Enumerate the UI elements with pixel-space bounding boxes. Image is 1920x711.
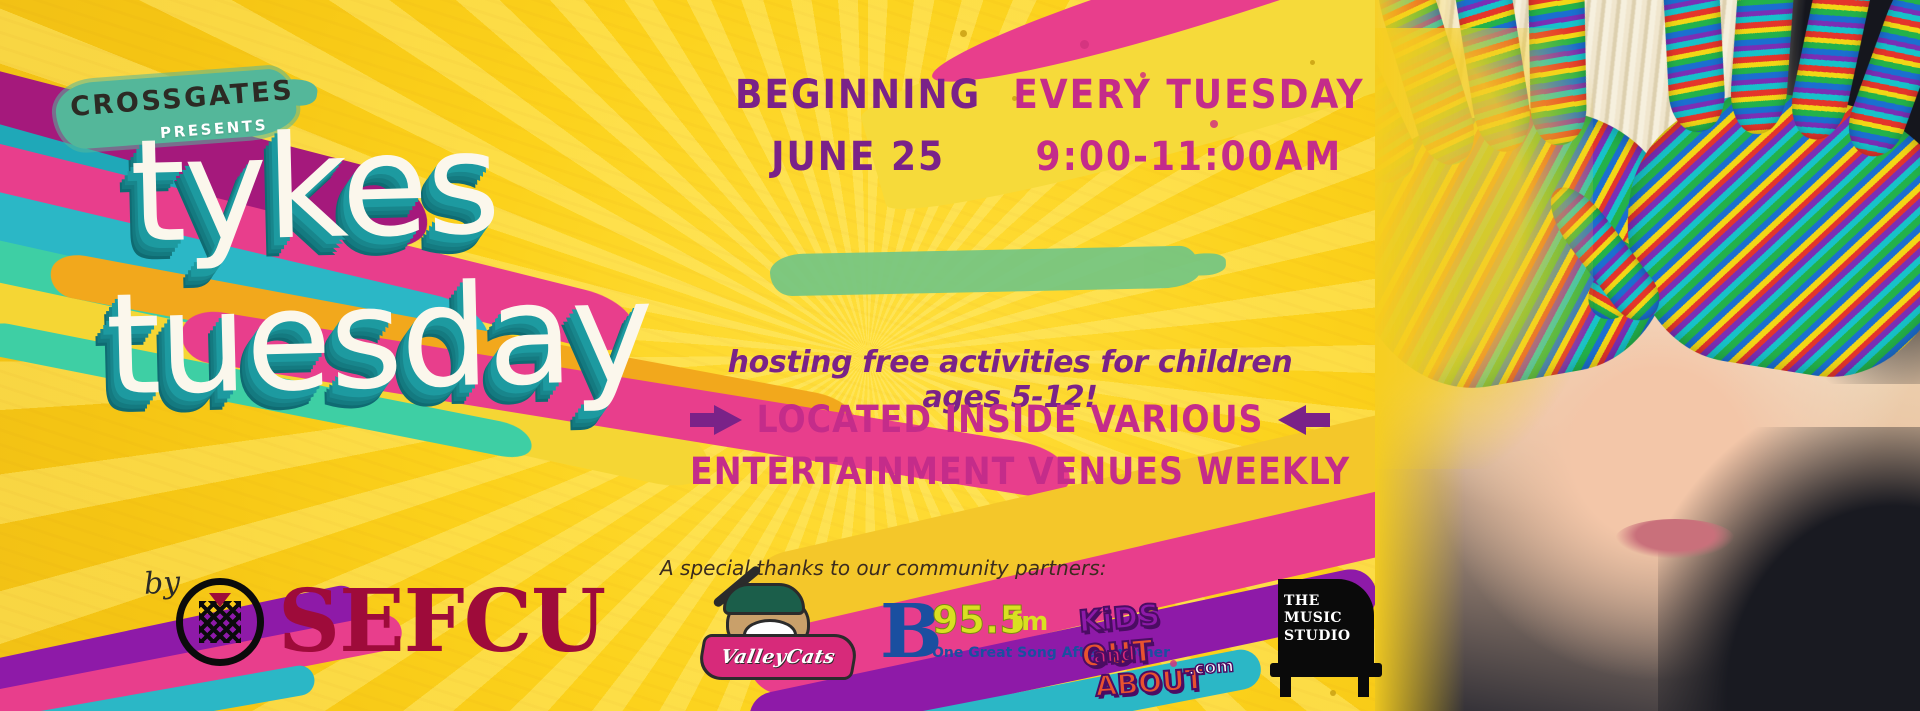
schedule-header: BEGINNING JUNE 25 EVERY TUESDAY 9:00-11:… xyxy=(735,64,1295,194)
kids-out-and-about-logo: KiDS OUT and ABOUT .com xyxy=(1080,596,1240,680)
paint-speck xyxy=(960,30,967,37)
schedule-start-column: BEGINNING JUNE 25 xyxy=(735,64,981,188)
partner-logos: ValleyCats B 95.5 fm One Great Song Afte… xyxy=(700,585,1400,690)
partners-thanks-label: A special thanks to our community partne… xyxy=(660,556,1360,580)
b955-band: fm xyxy=(1010,607,1048,637)
child-with-painted-hands-photo xyxy=(1375,0,1920,711)
music-studio-wordmark: THE MUSIC STUDIO xyxy=(1284,593,1370,646)
b955-logo: B 95.5 fm One Great Song After Another xyxy=(880,597,1050,679)
sefcu-knot-icon xyxy=(176,578,264,666)
schedule-recurrence: EVERY TUESDAY xyxy=(1013,64,1364,126)
venues-text: ENTERTAINMENT VENUES WEEKLY xyxy=(690,450,1330,493)
valleycats-wordmark: ValleyCats xyxy=(719,646,837,668)
schedule-beginning-label: BEGINNING xyxy=(735,64,981,126)
music-studio-logo: THE MUSIC STUDIO xyxy=(1270,579,1390,697)
arrow-left-icon xyxy=(1282,405,1330,435)
sefcu-logo: SEFCU xyxy=(176,578,605,666)
location-line: LOCATED INSIDE VARIOUS xyxy=(690,398,1330,441)
event-title-line-2: tuesday xyxy=(104,267,633,413)
koa-and-word: and xyxy=(1092,641,1136,668)
sefcu-wordmark: SEFCU xyxy=(278,579,605,665)
music-studio-line-1: THE xyxy=(1284,593,1370,611)
schedule-start-date: JUNE 25 xyxy=(735,126,981,188)
valleycats-ribbon: ValleyCats xyxy=(696,634,860,680)
schedule-time-range: 9:00-11:00AM xyxy=(1013,126,1364,188)
arrow-right-icon xyxy=(690,405,738,435)
paint-speck xyxy=(1080,40,1089,49)
music-studio-line-3: STUDIO xyxy=(1284,628,1370,646)
music-studio-line-2: MUSIC xyxy=(1284,610,1370,628)
tykes-tuesday-promo-banner: CROSSGATES PRESENTS tykes tuesday by SEF… xyxy=(0,0,1920,711)
schedule-recurrence-column: EVERY TUESDAY 9:00-11:00AM xyxy=(1013,64,1364,188)
koa-domain: .com xyxy=(1187,656,1234,679)
valleycats-logo: ValleyCats xyxy=(700,588,850,688)
location-text: LOCATED INSIDE VARIOUS xyxy=(756,398,1263,441)
event-title: tykes tuesday xyxy=(107,114,634,413)
event-title-line-1: tykes xyxy=(129,114,630,261)
green-brush-divider xyxy=(770,246,1201,297)
